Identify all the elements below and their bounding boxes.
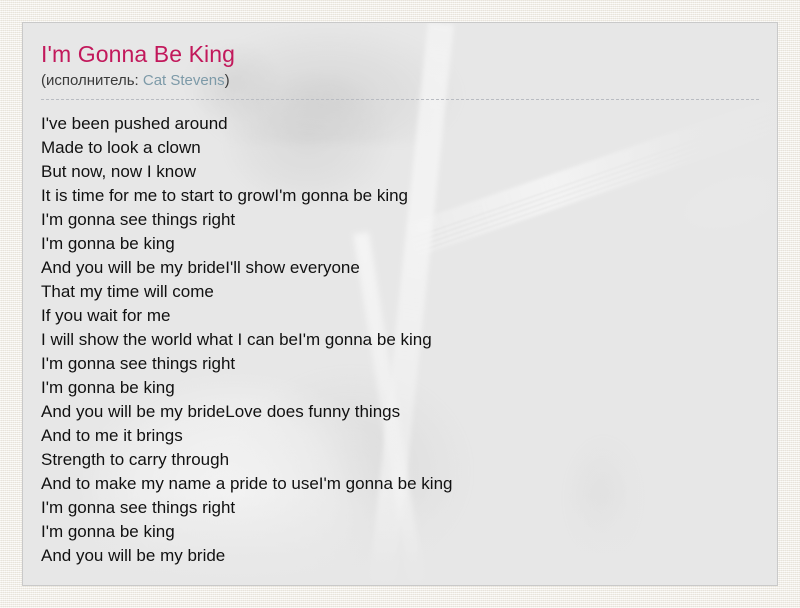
page-title: I'm Gonna Be King xyxy=(41,39,759,69)
lyric-line: And you will be my bride xyxy=(41,544,759,568)
lyrics-card: I'm Gonna Be King (исполнитель: Cat Stev… xyxy=(22,22,778,586)
lyric-line: I'm gonna be king xyxy=(41,232,759,256)
artist-link[interactable]: Cat Stevens xyxy=(143,72,225,89)
artist-prefix-label: (исполнитель: xyxy=(41,72,143,89)
lyric-line: I've been pushed around xyxy=(41,112,759,136)
lyric-line: Made to look a clown xyxy=(41,136,759,160)
artist-attribution: (исполнитель: Cat Stevens) xyxy=(41,71,759,100)
lyric-line: I'm gonna see things right xyxy=(41,208,759,232)
lyric-line: Strength to carry through xyxy=(41,448,759,472)
lyric-line: I'm gonna be king xyxy=(41,376,759,400)
lyric-line: That my time will come xyxy=(41,280,759,304)
lyric-line: If you wait for me xyxy=(41,304,759,328)
lyric-line: And you will be my brideI'll show everyo… xyxy=(41,256,759,280)
lyrics-text: I've been pushed aroundMade to look a cl… xyxy=(41,100,759,568)
lyric-line: And to make my name a pride to useI'm go… xyxy=(41,472,759,496)
lyric-line: It is time for me to start to growI'm go… xyxy=(41,184,759,208)
lyric-line: But now, now I know xyxy=(41,160,759,184)
lyric-line: I'm gonna see things right xyxy=(41,352,759,376)
lyric-line: I'm gonna see things right xyxy=(41,496,759,520)
card-content: I'm Gonna Be King (исполнитель: Cat Stev… xyxy=(23,23,777,568)
lyric-line: And to me it brings xyxy=(41,424,759,448)
lyric-line: And you will be my brideLove does funny … xyxy=(41,400,759,424)
artist-suffix-label: ) xyxy=(225,72,230,89)
lyric-line: I'm gonna be king xyxy=(41,520,759,544)
lyric-line: I will show the world what I can beI'm g… xyxy=(41,328,759,352)
